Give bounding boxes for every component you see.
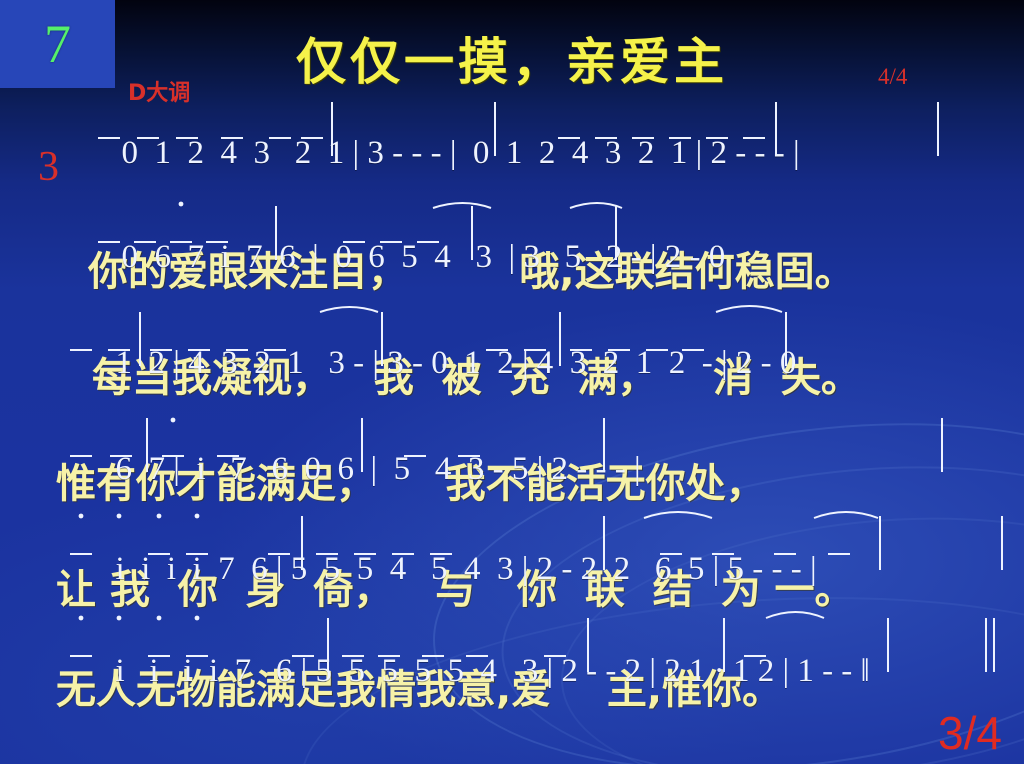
time-signature-label: 4/4 [878,64,907,90]
notation-text-6: i i i i 7 6 | 5 5 5 5 5 4 3 | 2 - - 2 | … [116,653,870,689]
score-line-6: i i i i 7 6 | 5 5 5 5 5 4 3 | 2 - - 2 | … [0,622,1024,764]
notation-text-5: i i i i 7 6 | 5 5 5 4 5 4 3 | 2 - 2 2 6 … [116,551,817,587]
notation-text-4: 6 7 | i 7 6 0 6 | 5 4 3 - 5 | 2 - - - | [116,451,641,487]
notation-text-1: 0 1 2 4 3 2 1 | 3 - - - | 0 1 2 4 3 2 1 … [122,135,800,171]
notation-text-3: 1 2 | 4 3 2 1 3 - | 3 - 0 1 2 | 4 3 2 1 … [116,345,797,381]
slide-canvas: 7 仅仅一摸，亲爱主 D大调 4/4 3 0 1 2 4 3 2 1 | 3 -… [0,0,1024,764]
key-signature-label: D大调 [128,75,190,107]
notation-row-6: i i i i 7 6 | 5 5 5 5 5 4 3 | 2 - - 2 | … [0,622,1024,754]
page-indicator: 3/4 [938,706,1002,760]
notation-text-2: 0 6 7 i 7 6 | 0 6 5 4 3 | 3 5 2 - | 2 - … [122,239,726,275]
